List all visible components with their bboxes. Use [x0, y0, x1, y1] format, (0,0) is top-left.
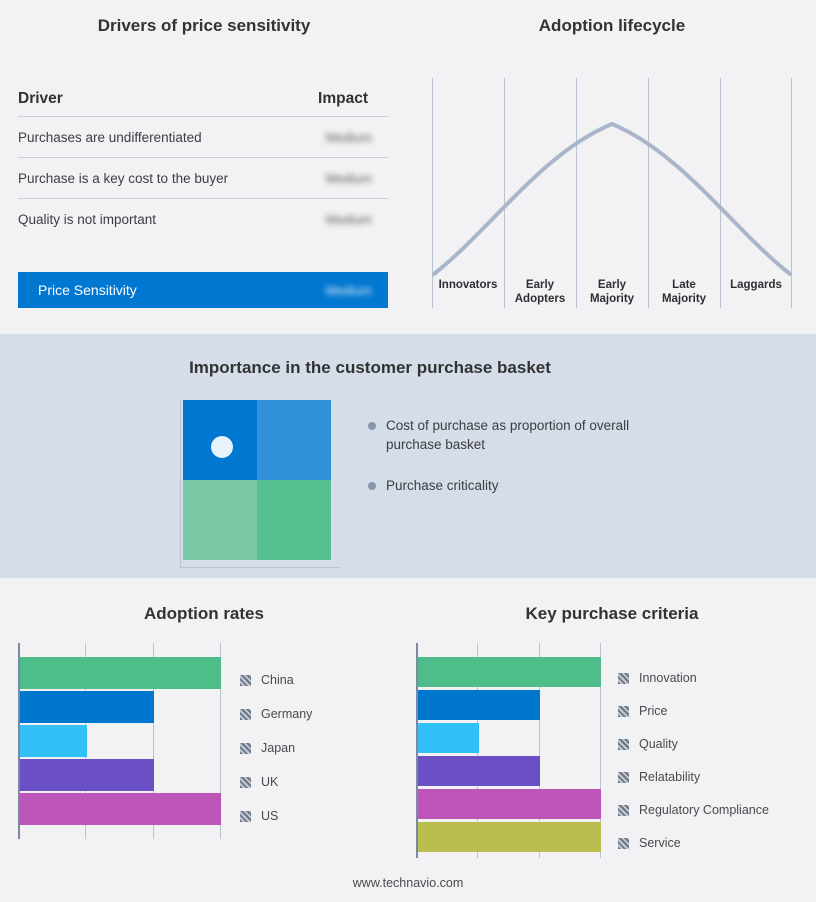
column-header-driver: Driver: [18, 90, 63, 108]
stage-line-2: Majority: [576, 292, 648, 306]
legend-label: Service: [639, 836, 681, 850]
legend-label: Price: [639, 704, 667, 718]
legend-swatch-icon: [618, 739, 629, 750]
legend-item-relatability: Relatability: [618, 762, 816, 792]
bar-row-price: [418, 690, 601, 720]
adoption-rates-panel-title: Adoption rates: [0, 604, 408, 624]
legend-swatch-icon: [618, 838, 629, 849]
importance-panel-title: Importance in the customer purchase bask…: [0, 358, 740, 378]
bar-row-innovation: [418, 657, 601, 687]
legend-swatch-icon: [240, 743, 251, 754]
bar-innovation: [418, 657, 601, 687]
legend-swatch-icon: [618, 706, 629, 717]
legend-item-regulatory-compliance: Regulatory Compliance: [618, 795, 816, 825]
lifecycle-bell-curve-svg: [432, 78, 792, 308]
legend-swatch-icon: [240, 777, 251, 788]
bar-regulatory-compliance: [418, 789, 601, 819]
lifecycle-panel: Adoption lifecycle Innovators: [408, 0, 816, 334]
summary-row-impact-value: Medium: [326, 283, 372, 298]
drivers-panel: Drivers of price sensitivity Driver Impa…: [0, 0, 408, 334]
bar-row-china: [20, 657, 221, 689]
price-sensitivity-summary-row: Price Sensitivity Medium: [18, 272, 388, 308]
stage-line-1: Early: [576, 278, 648, 292]
legend-item: Purchase criticality: [368, 476, 668, 495]
bar-row-uk: [20, 759, 221, 791]
bar-japan: [20, 725, 87, 757]
bullet-icon: [368, 482, 376, 490]
importance-quadrant-matrix: [180, 400, 340, 568]
impact-value: Medium: [326, 212, 372, 227]
adoption-rates-panel: Adoption rates: [0, 578, 408, 902]
criteria-chart: Innovation Price Quality Relatability Re…: [416, 643, 816, 858]
legend-item-us: US: [240, 800, 390, 832]
impact-value: Medium: [326, 130, 372, 145]
impact-value: Medium: [326, 171, 372, 186]
bar-row-quality: [418, 723, 601, 753]
bar-relatability: [418, 756, 540, 786]
bar-price: [418, 690, 540, 720]
stage-line-2: Adopters: [504, 292, 576, 306]
adoption-curve: [434, 124, 790, 274]
stage-line-1: Early: [504, 278, 576, 292]
bar-germany: [20, 691, 154, 723]
bar-row-germany: [20, 691, 221, 723]
stage-line-2: Laggards: [720, 278, 792, 292]
legend-item-price: Price: [618, 696, 816, 726]
legend-label: Regulatory Compliance: [639, 803, 769, 817]
criteria-panel: Key purchase criteria: [408, 578, 816, 902]
lifecycle-stage-laggards: Laggards: [720, 278, 792, 308]
adoption-rates-bars: [20, 657, 221, 825]
lifecycle-stage-early-majority: Early Majority: [576, 278, 648, 308]
bar-row-regulatory-compliance: [418, 789, 601, 819]
legend-item-quality: Quality: [618, 729, 816, 759]
legend-label: Quality: [639, 737, 678, 751]
criteria-bars: [418, 657, 601, 852]
table-row: Purchases are undifferentiated Medium: [18, 117, 388, 158]
legend-label: UK: [261, 775, 278, 789]
bar-quality: [418, 723, 479, 753]
footer-url: www.technavio.com: [0, 876, 816, 890]
lifecycle-stage-innovators: Innovators: [432, 278, 504, 308]
legend-item-china: China: [240, 664, 390, 696]
legend-label: Germany: [261, 707, 312, 721]
legend-swatch-icon: [618, 772, 629, 783]
adoption-rates-plot: [18, 643, 221, 839]
drivers-panel-title: Drivers of price sensitivity: [0, 16, 408, 36]
legend-label: Japan: [261, 741, 295, 755]
column-header-impact: Impact: [318, 90, 368, 108]
driver-label: Purchases are undifferentiated: [18, 130, 202, 145]
legend-swatch-icon: [240, 811, 251, 822]
legend-label: Relatability: [639, 770, 700, 784]
lifecycle-chart: Innovators Early Adopters Early Majority…: [432, 78, 792, 308]
bar-row-us: [20, 793, 221, 825]
driver-label: Quality is not important: [18, 212, 156, 227]
adoption-rates-chart: China Germany Japan UK US: [18, 643, 390, 839]
infographic-page: Drivers of price sensitivity Driver Impa…: [0, 0, 816, 902]
adoption-rates-legend: China Germany Japan UK US: [240, 664, 390, 832]
bar-uk: [20, 759, 154, 791]
bar-service: [418, 822, 601, 852]
drivers-table-header: Driver Impact: [18, 90, 388, 117]
legend-item-uk: UK: [240, 766, 390, 798]
legend-item: Cost of purchase as proportion of overal…: [368, 416, 668, 454]
driver-label: Purchase is a key cost to the buyer: [18, 171, 228, 186]
legend-swatch-icon: [618, 673, 629, 684]
criteria-legend: Innovation Price Quality Relatability Re…: [618, 663, 816, 858]
bullet-icon: [368, 422, 376, 430]
stage-line-2: Innovators: [432, 278, 504, 292]
importance-legend: Cost of purchase as proportion of overal…: [368, 416, 668, 517]
bar-row-service: [418, 822, 601, 852]
legend-label: Purchase criticality: [386, 476, 499, 495]
table-row: Quality is not important Medium: [18, 199, 388, 240]
legend-item-germany: Germany: [240, 698, 390, 730]
legend-swatch-icon: [240, 709, 251, 720]
legend-label: China: [261, 673, 294, 687]
stage-line-2: Majority: [648, 292, 720, 306]
stage-line-1: Late: [648, 278, 720, 292]
drivers-table: Driver Impact Purchases are undifferenti…: [18, 90, 388, 240]
lifecycle-stage-labels: Innovators Early Adopters Early Majority…: [432, 278, 792, 308]
bar-us: [20, 793, 221, 825]
legend-item-japan: Japan: [240, 732, 390, 764]
bar-china: [20, 657, 221, 689]
criteria-plot: [416, 643, 601, 858]
lifecycle-stage-late-majority: Late Majority: [648, 278, 720, 308]
legend-item-service: Service: [618, 828, 816, 858]
quadrant-bottom-left: [183, 480, 257, 560]
legend-label: Cost of purchase as proportion of overal…: [386, 416, 646, 454]
legend-label: Innovation: [639, 671, 697, 685]
quadrant-cells: [183, 400, 331, 560]
lifecycle-stage-early-adopters: Early Adopters: [504, 278, 576, 308]
criteria-panel-title: Key purchase criteria: [408, 604, 816, 624]
lifecycle-panel-title: Adoption lifecycle: [408, 16, 816, 36]
legend-swatch-icon: [618, 805, 629, 816]
legend-item-innovation: Innovation: [618, 663, 816, 693]
bar-row-relatability: [418, 756, 601, 786]
importance-panel: Importance in the customer purchase bask…: [0, 334, 816, 578]
quadrant-top-right: [257, 400, 331, 480]
quadrant-position-marker-dot: [211, 436, 233, 458]
legend-label: US: [261, 809, 278, 823]
table-row: Purchase is a key cost to the buyer Medi…: [18, 158, 388, 199]
summary-row-label: Price Sensitivity: [38, 282, 137, 298]
legend-swatch-icon: [240, 675, 251, 686]
quadrant-bottom-right: [257, 480, 331, 560]
bar-row-japan: [20, 725, 221, 757]
